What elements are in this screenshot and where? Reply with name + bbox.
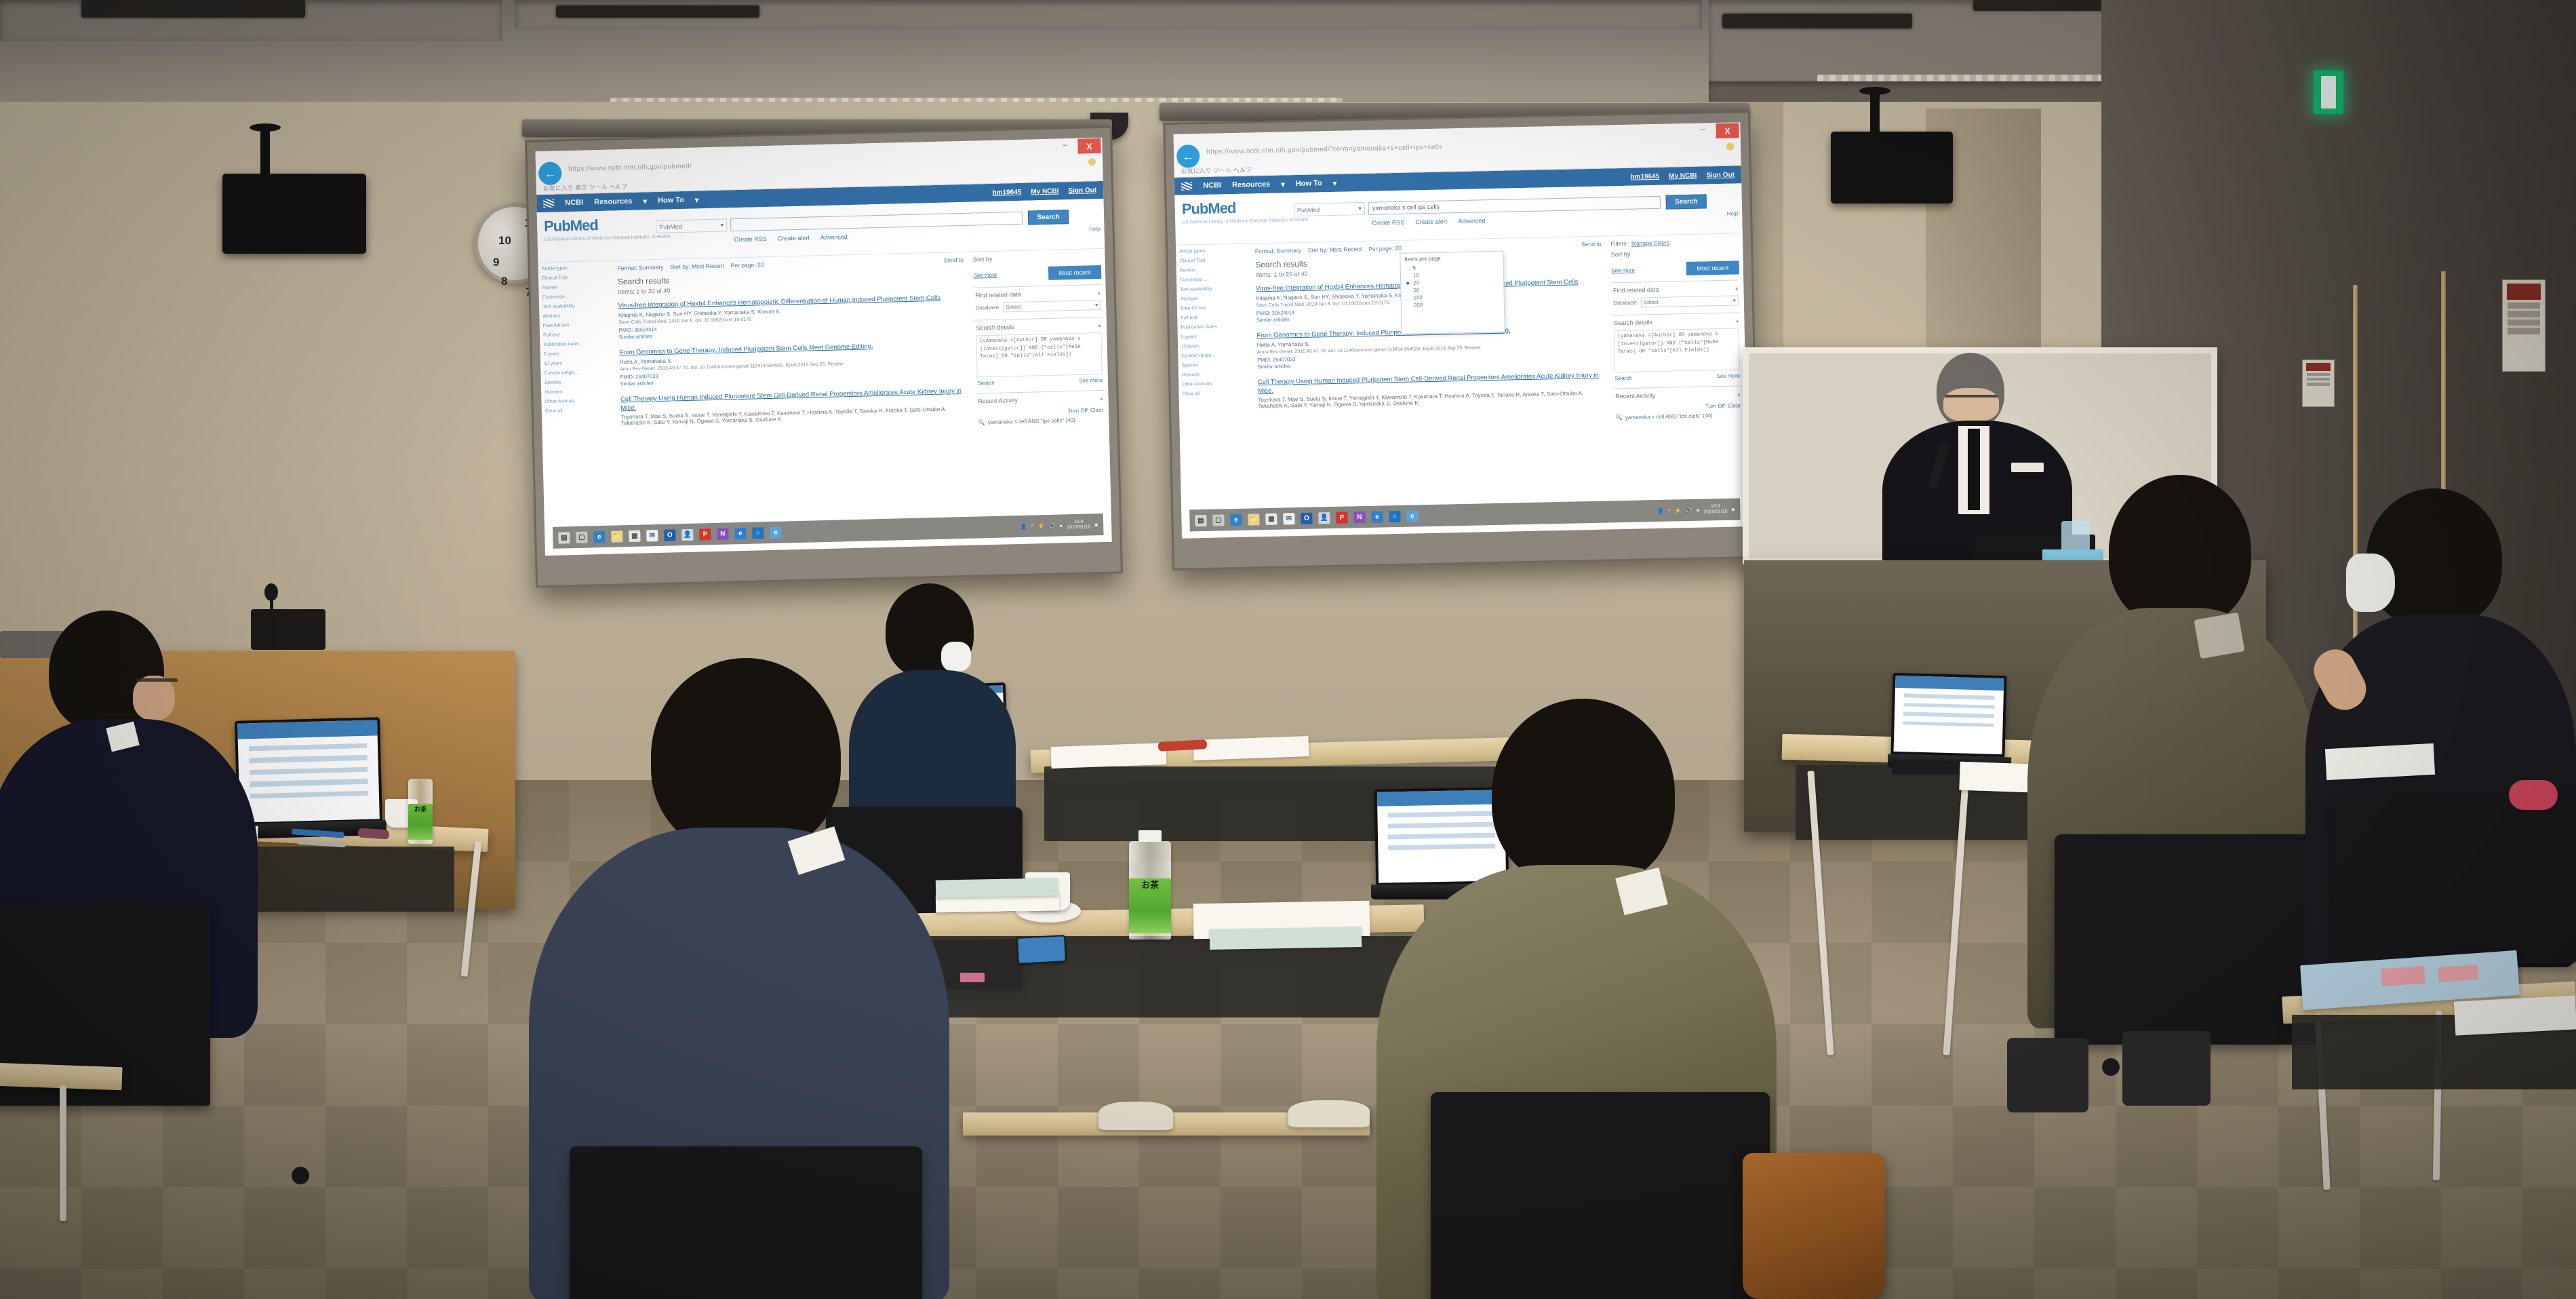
filter-item[interactable]: Humans [1182,372,1249,378]
filter-item[interactable]: Clinical Trial [1179,258,1246,264]
person-icon[interactable]: 👤 [1657,507,1664,513]
battery-icon[interactable]: ■ [1731,506,1735,512]
projection-screen-right: ← https://www.ncbi.nlm.nih.gov/pubmed/?t… [1163,111,1760,570]
recent-activity-title: Recent Activity [1615,390,1741,400]
database-label: Database: [1613,300,1638,307]
battery-icon[interactable]: ■ [1094,522,1098,528]
attendee-head [2109,475,2251,628]
ncbi-logo-icon [543,199,554,208]
related-database-row: Database: Select [975,300,1101,313]
ie-icon[interactable]: e [770,526,781,538]
pink-sticky-note [2381,966,2425,986]
most-recent-button[interactable]: Most recent [1686,260,1739,275]
filter-item[interactable]: Full text [543,332,610,338]
filter-item[interactable]: Full text [1181,315,1248,321]
edge-icon[interactable]: e [1230,513,1242,525]
attendee-head [651,658,841,855]
filter-item[interactable]: Text availability [542,303,610,309]
database-select[interactable]: PubMed [1294,202,1365,216]
pdf-icon[interactable]: P [1336,511,1347,523]
filter-item[interactable]: Other Animals [1182,381,1249,387]
dropdown-label: Items per page [1404,254,1499,263]
favicon-icon [1726,143,1734,151]
shoe [2007,1038,2088,1112]
database-select[interactable]: Select [1003,300,1101,313]
back-arrow-icon[interactable]: ← [538,161,562,185]
seminar-room-photo: 11 10 9 8 7 ← https://www.ncbi.nlm.nih.g… [0,0,2576,1299]
chevron-up-icon[interactable]: ^ [1031,523,1034,529]
filter-item[interactable]: Species [1182,362,1249,368]
filters-sidebar: Article types Clinical Trial Review Cust… [1176,244,1256,539]
related-database-row: Database: Select [1613,295,1739,308]
microphone-head-icon [264,583,278,601]
smartphone[interactable] [1016,935,1067,965]
wall-notice-left [2302,360,2335,407]
create-alert-link[interactable]: Create alert [1415,218,1447,225]
glasses-icon [1945,395,1998,404]
start-icon[interactable]: ▤ [1195,514,1206,526]
recent-activity-title: Recent Activity [978,395,1103,406]
filter-item[interactable]: Abstract [542,313,610,319]
pink-sticky-note [2438,965,2478,982]
pdf-icon[interactable]: P [699,528,711,540]
filter-item[interactable]: Abstract [1181,296,1248,302]
see-more-link[interactable]: See more [973,271,997,278]
clear-link[interactable]: Clear [1728,401,1741,411]
details-see-more-link[interactable]: See more [1079,377,1103,384]
close-button[interactable]: X [1077,138,1101,154]
office-icon[interactable]: ○ [1389,510,1400,522]
network-icon[interactable]: ⚡ [1675,507,1682,513]
ceiling-vent [556,5,759,18]
advanced-link[interactable]: Advanced [1458,217,1485,225]
sort-by-label: Sort by [973,256,993,263]
projection-screen-left: ← https://www.ncbi.nlm.nih.gov/pubmed/ –… [525,126,1123,588]
help-link[interactable]: Help [1727,210,1739,216]
database-select[interactable]: Select [1641,295,1739,307]
chevron-down-icon: ▾ [1281,180,1285,189]
ncbi-brand[interactable]: NCBI [565,199,583,208]
ceiling-vent [81,0,305,18]
search-details-query[interactable]: (yamanaka s[Author] OR yamanaka s [Inves… [976,332,1103,377]
ceiling-vent [1722,14,1912,28]
store-icon[interactable]: ▦ [629,530,640,541]
onenote-icon[interactable]: N [717,528,728,539]
filter-item[interactable]: Article types [1179,248,1246,254]
exit-sign [2314,71,2343,114]
manage-filters-link[interactable]: Manage Filters [1631,239,1669,247]
filter-item[interactable]: Customize ... [542,294,610,300]
mail-icon[interactable]: ✉ [1283,513,1294,524]
wall-notice-right [2502,279,2545,372]
sign-out-link[interactable]: Sign Out [1706,171,1735,179]
minimize-button[interactable]: – [1695,124,1710,136]
pocket-square [2011,463,2044,472]
filter-item[interactable]: 5 years [1181,334,1248,340]
filter-item[interactable]: Free full text [543,322,610,328]
search-button[interactable]: Search [1028,210,1069,225]
search-details-title: Search details [976,322,1101,332]
filter-item[interactable]: Free full text [1181,305,1248,311]
mail-icon[interactable]: ✉ [646,530,658,541]
ceiling-speaker [222,174,366,254]
ncbi-username[interactable]: hm19645 [1630,172,1659,180]
attendee-head [1492,699,1675,889]
recent-activity-body: Turn Off Clear 🔍 yamanaka s cell AND "ip… [1615,401,1741,423]
ncbi-brand[interactable]: NCBI [1203,181,1221,190]
format-selector[interactable]: Format: Summary [617,264,663,272]
recent-activity: Recent Activity Turn Off Clear 🔍 yamanak… [976,390,1105,435]
related-data-title: Find related data [975,289,1101,300]
tea-carton: お茶 [408,779,433,844]
taskbar-clock[interactable]: 16:9 2019/01/10 [1703,504,1727,515]
bottle-cap [1138,830,1162,842]
filter-item[interactable]: Clear all [545,408,612,414]
pubmed-sub-links: Create RSS Create alert Advanced [1372,217,1485,226]
send-to-menu[interactable]: Send to [944,256,964,264]
favicon-icon [1088,158,1096,166]
turn-off-link[interactable]: Turn Off [1068,406,1088,416]
office-icon[interactable]: ○ [752,527,764,539]
search-details-query[interactable]: (yamanaka s[Author] OR yamanaka s [Inves… [1614,328,1740,372]
task-view-icon[interactable]: ▢ [1212,514,1224,526]
desk-modesty-panel [915,936,1417,1017]
results-column: Format: Summary Sort by: Most Recent Per… [612,252,976,554]
filter-item[interactable]: Review [542,284,609,290]
filter-item[interactable]: Text availability [1180,286,1247,292]
onenote-icon[interactable]: N [1353,511,1365,523]
back-arrow-icon[interactable]: ← [1176,144,1200,168]
shoe [2122,1031,2211,1106]
filter-item[interactable]: Review [1180,267,1247,273]
filters-label: Filters: [1610,240,1628,248]
sort-controls: See more Most recent [1611,260,1739,277]
filter-item[interactable]: 10 years [1181,343,1248,349]
search-details: Search details (yamanaka s[Author] OR ya… [974,317,1104,393]
per-page-selector[interactable]: Per page: 20 [731,261,764,269]
right-rail: Sort by See more Most recent Find relate… [969,249,1112,545]
system-tray: 👤 ^ ⚡ 🔊 ● 16:9 2019/01/10 ■ [1657,504,1735,516]
sort-by-label: Sort by [1611,251,1631,258]
my-ncbi-link[interactable]: My NCBI [1031,187,1058,195]
chevron-down-icon: ▾ [1333,178,1337,187]
filter-item[interactable]: Custom range... [1181,353,1248,359]
search-details-footer: Search See more [977,377,1103,387]
chevron-up-icon[interactable]: ^ [1668,507,1671,513]
chair-center-foreground [570,1146,922,1299]
send-to-menu[interactable]: Send to [1581,241,1602,248]
scarf [2194,613,2244,659]
handout-paper [2325,743,2435,780]
face-mask [2346,554,2395,612]
edge-icon[interactable]: e [1371,511,1383,522]
pubmed-body: Article types Clinical Trial Review Cust… [538,249,1111,556]
sort-selector[interactable]: Sort by: Most Recent [1308,246,1362,254]
browser-window-right: ← https://www.ncbi.nlm.nih.gov/pubmed/?t… [1174,122,1749,538]
ncbi-howto-menu[interactable]: How To [658,196,684,205]
outlook-icon[interactable]: O [664,529,675,541]
volume-icon[interactable]: 🔊 [1686,507,1692,513]
presenter-face [1943,388,1999,422]
details-search-button[interactable]: Search [977,380,995,387]
recent-activity-item[interactable]: 🔍 yamanaka s cell AND "ips cells" (40) [1616,411,1741,423]
pink-sticky-note [960,973,985,982]
filter-item[interactable]: 5 years [544,351,611,357]
ncbi-username[interactable]: hm19645 [992,188,1021,196]
search-details-title: Search details [1614,317,1739,327]
results-column: Format: Summary Sort by: Most Recent Per… [1250,236,1613,537]
details-see-more-link[interactable]: See more [1716,372,1740,379]
chair-wheel [2102,1058,2120,1076]
filter-item[interactable]: 10 years [544,360,611,366]
desk-leg [60,1085,66,1221]
cloth-item [1288,1100,1370,1127]
filter-item[interactable]: Custom range... [544,370,611,376]
taskbar-clock[interactable]: 16:9 2019/01/10 [1067,520,1090,530]
details-search-button[interactable]: Search [1614,375,1632,382]
filter-item[interactable]: Publication dates [1181,324,1248,330]
result-item: Cell Therapy Using Human Induced Pluripo… [1258,371,1605,409]
result-item: From Genomics to Gene Therapy: Induced P… [619,341,966,387]
tea-label: お茶 [408,804,433,840]
microphone-stand [270,597,273,643]
search-icon: 🔍 [978,419,985,429]
sort-row: Sort by [1611,248,1739,258]
browser-window-left: ← https://www.ncbi.nlm.nih.gov/pubmed/ –… [535,138,1111,556]
red-item [2509,780,2558,810]
people-icon[interactable]: 👤 [681,528,693,540]
person-icon[interactable]: 👤 [1021,523,1027,529]
chevron-down-icon: ▾ [695,195,699,204]
filters-sidebar: Article types Clinical Trial Review Cust… [538,261,618,556]
ime-icon[interactable]: ● [1696,507,1699,513]
system-tray: 👤 ^ ⚡ 🔊 ● 16:9 2019/01/10 ■ [1021,520,1098,532]
handout-paper [2454,995,2576,1035]
filter-item[interactable]: Article types [542,265,609,271]
task-view-icon[interactable]: ▢ [576,531,587,543]
clear-link[interactable]: Clear [1090,406,1103,416]
explorer-icon[interactable]: 📁 [611,530,622,542]
advanced-link[interactable]: Advanced [820,233,848,241]
ie-icon[interactable]: e [1406,510,1418,522]
ime-icon[interactable]: ● [1059,522,1063,528]
filter-item[interactable]: Humans [544,389,612,395]
search-button[interactable]: Search [1666,194,1707,209]
ncbi-logo-icon [1181,182,1192,190]
my-ncbi-link[interactable]: My NCBI [1669,172,1697,180]
find-related-data: Find related data Database: Select [974,284,1103,320]
result-item: Cell Therapy Using Human Induced Pluripo… [620,387,968,427]
database-label: Database: [976,305,1001,311]
store-icon[interactable]: ▦ [1265,513,1277,524]
per-page-selector[interactable]: Per page: 20 [1368,245,1402,252]
green-notebook [936,878,1058,897]
chevron-down-icon: ▾ [643,197,647,206]
search-details-footer: Search See more [1614,372,1740,381]
recent-activity-item[interactable]: 🔍 yamanaka s cell AND "ips cells" (40) [978,415,1104,428]
turn-off-link[interactable]: Turn Off [1705,402,1725,412]
bottle-label: お茶 [1129,878,1171,933]
right-rail: Filters: Manage Filters Sort by See more… [1606,233,1749,529]
start-icon[interactable]: ▤ [558,532,570,543]
filter-item[interactable]: Species [544,379,612,385]
ncbi-resources-menu[interactable]: Resources [594,197,633,206]
filter-item[interactable]: Clear all [1182,391,1249,397]
search-icon: 🔍 [1616,413,1623,423]
items-per-page-dropdown[interactable]: Items per page 5 10 20 50 100 200 [1400,251,1505,334]
database-select[interactable]: PubMed [656,218,727,233]
close-button[interactable]: X [1716,123,1739,138]
chair-right-foreground [1431,1092,1770,1299]
explorer-icon[interactable]: 📁 [1248,513,1259,525]
ceiling-speaker [1831,132,1953,203]
create-alert-link[interactable]: Create alert [778,234,810,241]
glasses-icon [136,678,178,688]
notebook [1050,743,1166,769]
result-item: Virus-free Integration of Hoxb4 Enhances… [618,294,966,340]
create-rss-link[interactable]: Create RSS [734,235,767,243]
most-recent-button[interactable]: Most recent [1048,265,1101,280]
search-details: Search details (yamanaka s[Author] OR ya… [1612,312,1742,388]
create-rss-link[interactable]: Create RSS [1372,219,1404,227]
presenter-tie [1968,429,1980,510]
green-tea-bottle: お茶 [1129,841,1171,939]
laptop-screen [1894,676,2004,754]
sign-out-link[interactable]: Sign Out [1068,187,1096,195]
find-related-data: Find related data Database: Select [1612,279,1741,315]
minimize-button[interactable]: – [1057,140,1072,153]
filters-row: Filters: Manage Filters [1610,237,1739,247]
notebook [1193,736,1309,760]
filter-item[interactable]: Publication dates [543,341,610,347]
green-notebook [1210,927,1362,950]
attendee-head [2366,488,2502,628]
edge-icon[interactable]: e [593,530,605,542]
filter-item[interactable]: Other Animals [544,398,612,404]
chair-far-right [2333,794,2576,963]
sort-selector[interactable]: Sort by: Most Recent [670,263,724,271]
pubmed-body: Article types Clinical Trial Review Cust… [1176,233,1749,538]
volume-icon[interactable]: 🔊 [1048,522,1055,528]
format-selector[interactable]: Format: Summary [1255,247,1301,254]
see-more-link[interactable]: See more [1611,267,1635,273]
chair-wheel [292,1167,309,1184]
sort-row: Sort by [973,253,1101,263]
help-link[interactable]: Help [1089,226,1101,232]
dropdown-option[interactable]: 200 [1406,300,1500,309]
outlook-icon[interactable]: O [1301,512,1312,524]
recent-activity-body: Turn Off Clear 🔍 yamanaka s cell AND "ip… [978,406,1103,428]
sort-controls: See more Most recent [973,265,1101,282]
people-icon[interactable]: 👤 [1318,512,1330,524]
recent-activity: Recent Activity Turn Off Clear 🔍 yamanak… [1614,385,1743,430]
chair-right-back [2055,834,2319,1045]
leather-bag [1743,1153,1885,1299]
ncbi-resources-menu[interactable]: Resources [1232,180,1271,189]
filter-item[interactable]: Customize ... [1180,277,1247,283]
network-icon[interactable]: ⚡ [1037,523,1044,529]
ncbi-howto-menu[interactable]: How To [1296,179,1322,188]
edge-icon[interactable]: e [734,527,746,539]
cloth-item [1098,1102,1173,1130]
filter-item[interactable]: Clinical Trial [542,275,609,281]
related-data-title: Find related data [1613,284,1739,294]
